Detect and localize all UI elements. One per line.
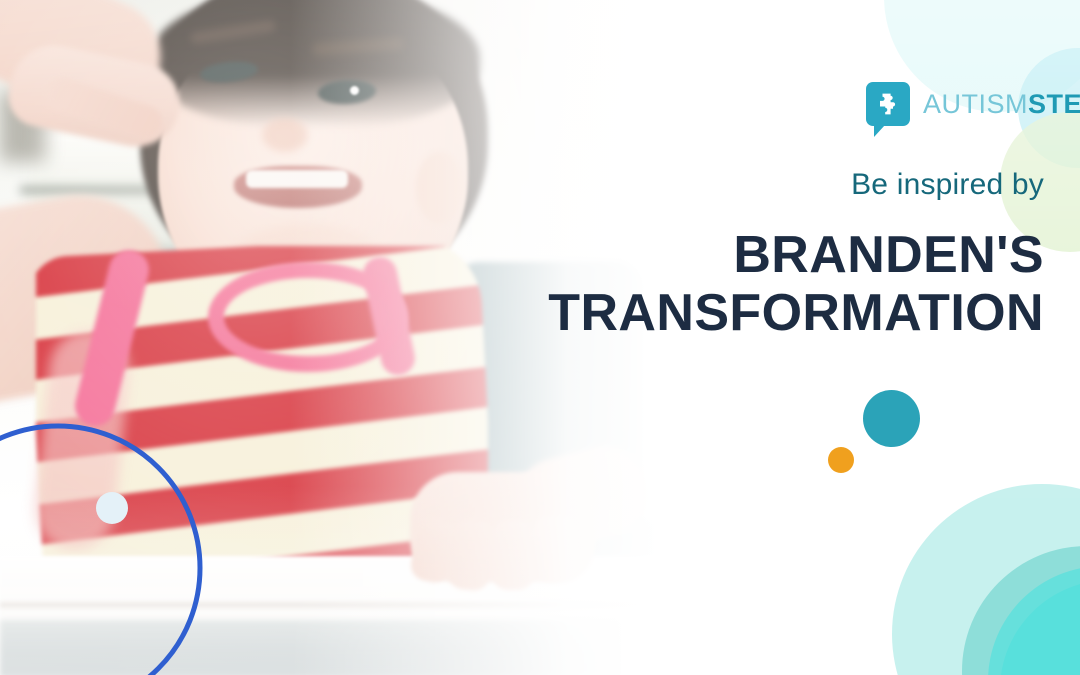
decorative-arc-dot: [96, 492, 128, 524]
photo-child-ear: [416, 152, 464, 224]
photo-finger-4: [531, 514, 582, 584]
photo-finger-2: [446, 518, 495, 592]
logo-wordmark: AUTISMSTEP: [923, 91, 1080, 118]
logo-word-autism: AUTISM: [923, 89, 1028, 119]
accent-dot-orange: [828, 447, 854, 473]
photo-child-nose: [262, 118, 308, 152]
photo-child-fringe: [150, 0, 480, 128]
logo-word-step: STEP: [1028, 89, 1080, 119]
promo-banner: AUTISMSTEP Be inspired by BRANDEN'S TRAN…: [0, 0, 1080, 675]
autismstep-logo[interactable]: AUTISMSTEP: [866, 82, 1080, 126]
photo-finger-3: [492, 520, 534, 590]
headline-line-1: BRANDEN'S: [548, 228, 1044, 284]
headline-line-2: TRANSFORMATION: [548, 286, 1044, 342]
eyebrow-text: Be inspired by: [548, 168, 1044, 201]
photo-shirt-neckline: [208, 262, 408, 372]
accent-dot-teal: [863, 390, 920, 447]
puzzle-piece-icon: [866, 82, 910, 126]
photo-child-teeth: [246, 170, 348, 188]
photo-child-eye-highlight: [350, 86, 359, 95]
decorative-blue-arc: [0, 418, 208, 675]
headline-block: Be inspired by BRANDEN'S TRANSFORMATION: [548, 168, 1044, 341]
